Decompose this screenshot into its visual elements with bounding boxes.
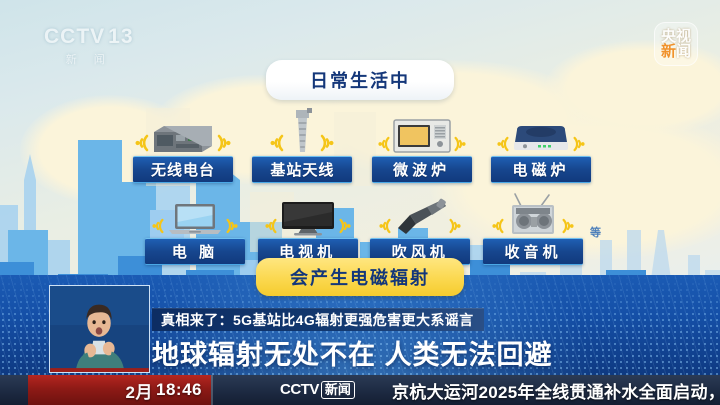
signal-wave-right-icon [216,132,231,154]
bottom-banner: 会产生电磁辐射 [256,258,464,296]
device-art [379,190,461,236]
cctv-news-app-logo: 央视 新闻 [654,22,698,66]
device-label: 电 脑 [145,238,245,265]
device-art [378,108,466,154]
signal-wave-left-icon [152,216,165,236]
signal-wave-left-icon [378,134,391,154]
boombox-radio-icon [507,192,559,236]
app-logo-rest: 闻 [676,43,691,60]
signal-wave-right-icon [225,216,238,236]
channel-logo-number: 13 [108,25,133,48]
cell-tower-icon [287,108,317,154]
device-art [152,190,238,236]
signal-wave-left-icon [270,132,285,154]
etc-note: 等 [590,224,601,240]
ticker-logo-cctv: CCTV [280,381,319,398]
device-item: 电 脑 [144,190,246,265]
device-art [492,190,574,236]
channel-logo-subtitle: 新 闻 [44,51,134,67]
device-label: 无线电台 [133,156,233,183]
signal-wave-right-icon [561,216,574,236]
interpreter-figure [50,286,149,372]
news-headline: 地球辐射无处不在 人类无法回避 [152,333,553,372]
device-item: 基站天线 [251,108,353,183]
device-row-2: 电 脑 [144,190,584,265]
signal-wave-left-icon [265,216,278,236]
device-item: 电磁炉 [490,108,592,183]
device-art [497,108,585,154]
channel-logo: CCTV13 新 闻 [44,26,134,67]
television-icon [280,200,336,236]
sign-language-interpreter-inset [49,285,150,373]
microwave-oven-icon [393,118,451,154]
device-item: 收音机 [482,190,584,265]
device-row-1: 无线电台 [132,108,592,183]
ticker-divider [211,375,213,405]
signal-wave-left-icon [379,216,392,236]
device-art [265,190,351,236]
device-label: 收音机 [483,238,583,265]
signal-wave-left-icon [135,132,150,154]
device-item: 电视机 [257,190,359,265]
device-item: 微波炉 [371,108,473,183]
broadcast-screen: CCTV13 新 闻 央视 新闻 日常生活中 [0,0,720,405]
channel-logo-name: CCTV [44,25,105,48]
ticker-clock: 2月 18:46 [28,375,211,405]
signal-wave-right-icon [572,134,585,154]
device-label: 微波炉 [372,156,472,183]
device-label: 电磁炉 [491,156,591,183]
laptop-icon [167,202,223,236]
signal-wave-left-icon [492,216,505,236]
signal-wave-left-icon [497,134,510,154]
news-ticker-bar: 2月 18:46 CCTV 新闻 京杭大运河2025年全线贯通补水全面启动，补水 [0,375,720,405]
signal-wave-right-icon [453,134,466,154]
ticker-left-cap [0,375,30,405]
induction-cooker-icon [512,122,570,154]
device-label: 基站天线 [252,156,352,183]
signal-wave-right-icon [448,216,461,236]
device-item: 吹风机 [369,190,471,265]
hair-dryer-icon [394,198,446,236]
ticker-date: 2月 [126,378,153,403]
signal-wave-right-icon [338,216,351,236]
signal-wave-right-icon [319,132,334,154]
device-art [270,108,334,154]
top-banner: 日常生活中 [266,60,454,100]
ticker-time: 18:46 [156,380,202,400]
ticker-logo-news: 新闻 [321,381,355,399]
device-art [135,108,231,154]
ticker-headline-text: 京杭大运河2025年全线贯通补水全面启动，补水 [392,375,720,405]
app-logo-line1: 央视 [661,29,691,44]
radio-transmitter-icon [152,120,214,154]
news-kicker: 真相来了：5G基站比4G辐射更强危害更大系谣言 [152,308,484,331]
ticker-cctv-logo: CCTV 新闻 [280,379,355,400]
device-item: 无线电台 [132,108,234,183]
app-logo-accent: 新 [661,43,676,60]
